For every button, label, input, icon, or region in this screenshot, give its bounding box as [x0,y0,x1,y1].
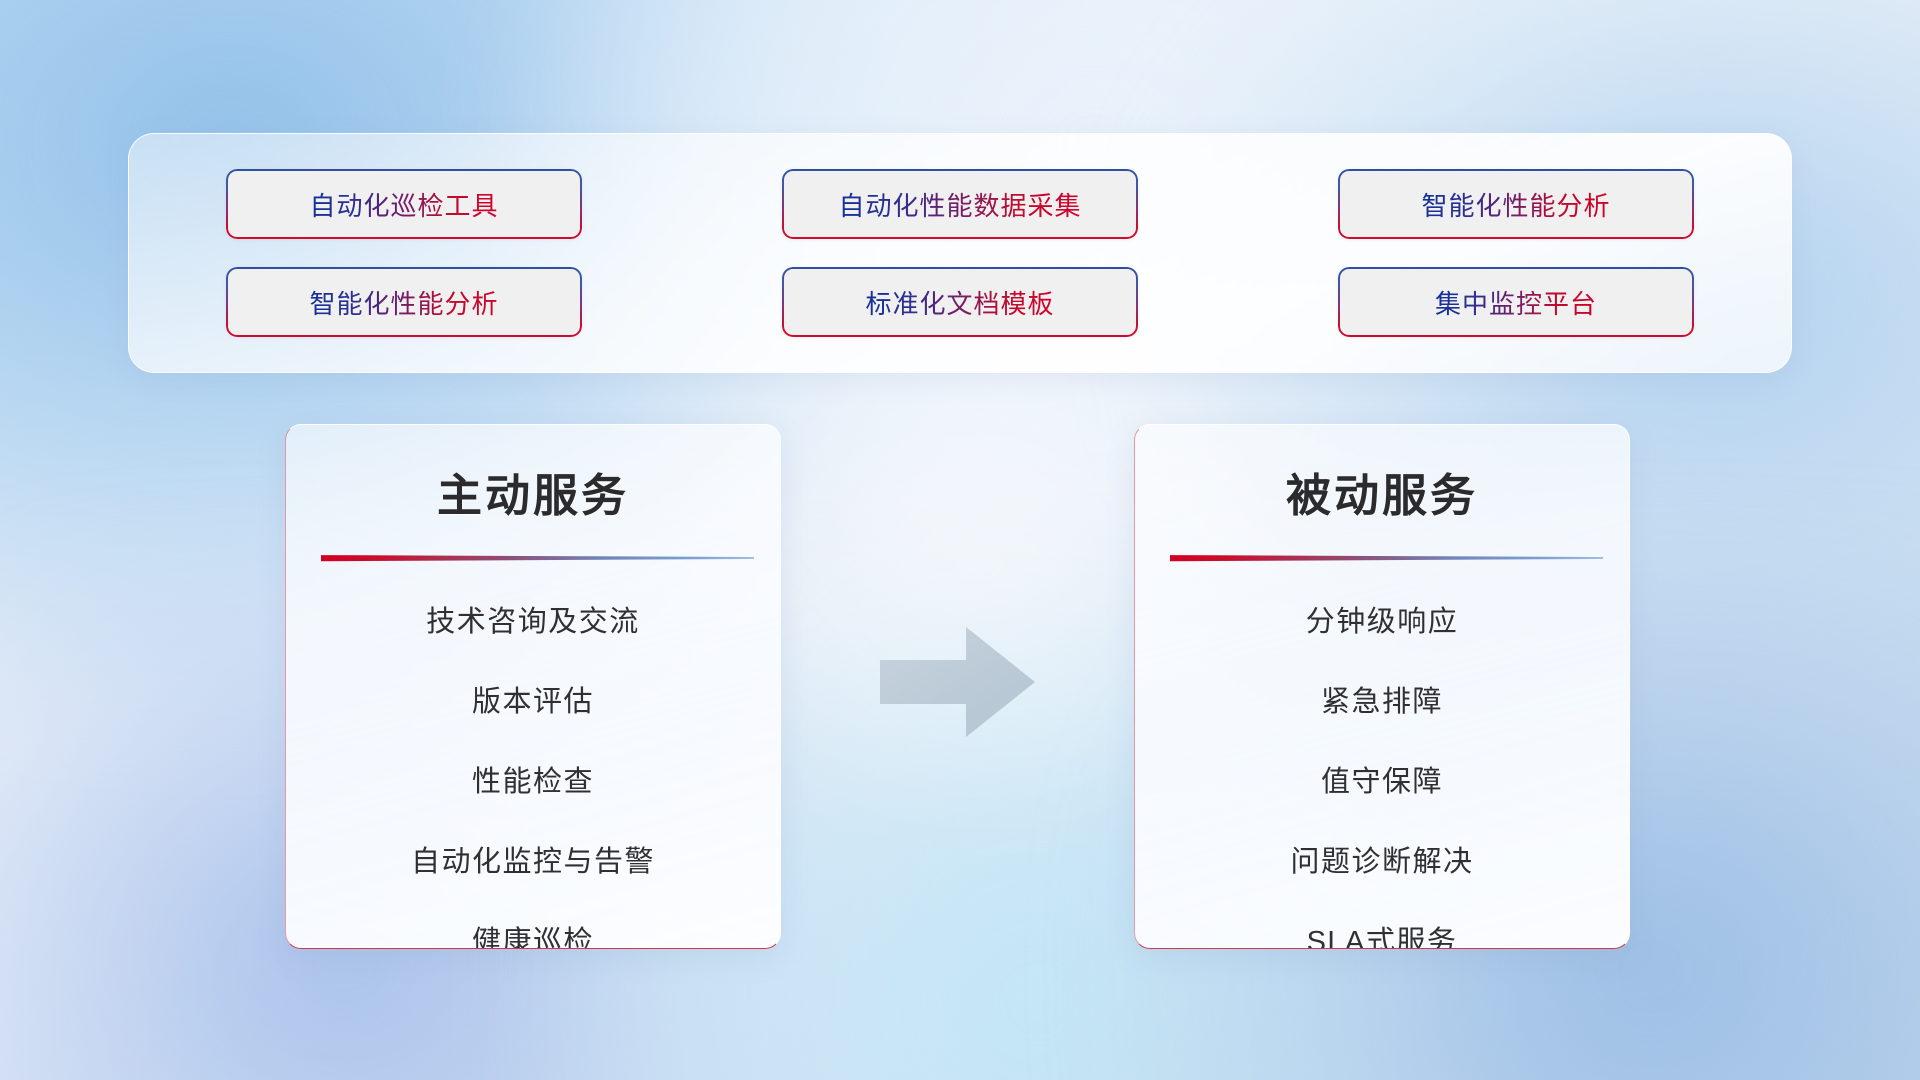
service-card-title: 被动服务 [1135,459,1629,524]
capability-pill-label: 智能化性能分析 [309,284,498,321]
capability-pill-1[interactable]: 自动化巡检工具 [226,169,582,239]
list-item: 健康巡检 [472,918,594,949]
capability-row-2: 智能化性能分析 标准化文档模板 集中监控平台 [226,267,1694,337]
service-card-list: 分钟级响应 紧急排障 值守保障 问题诊断解决 SLA式服务 [1135,598,1629,949]
list-item: 值守保障 [1321,758,1443,800]
capability-pill-3[interactable]: 智能化性能分析 [1338,169,1694,239]
capability-pill-6[interactable]: 集中监控平台 [1338,267,1694,337]
service-card-divider [321,554,754,562]
capability-pill-label: 标准化文档模板 [865,284,1054,321]
capability-row-1: 自动化巡检工具 自动化性能数据采集 智能化性能分析 [226,169,1694,239]
list-item: 技术咨询及交流 [426,598,640,640]
service-card-proactive[interactable]: 主动服务 技术咨询及交流 版本评估 性能检查 [285,424,781,949]
list-item: 性能检查 [472,758,594,800]
capability-pill-4[interactable]: 智能化性能分析 [226,267,582,337]
service-card-divider [1170,554,1603,562]
service-card-title: 主动服务 [286,459,780,524]
capability-pill-label: 自动化巡检工具 [309,186,498,223]
list-item: 版本评估 [472,678,594,720]
list-item: 分钟级响应 [1306,598,1459,640]
list-item: 问题诊断解决 [1290,838,1473,880]
capability-pill-5[interactable]: 标准化文档模板 [782,267,1138,337]
capability-pill-label: 集中监控平台 [1435,284,1597,321]
slide-stage: 自动化巡检工具 自动化性能数据采集 智能化性能分析 智能化性能分析 标准化文档模… [0,0,1920,1080]
right-arrow-icon [880,627,1035,737]
capability-pill-label: 智能化性能分析 [1421,186,1610,223]
list-item: SLA式服务 [1307,918,1458,949]
capability-pill-label: 自动化性能数据采集 [838,186,1081,223]
service-card-reactive[interactable]: 被动服务 分钟级响应 紧急排障 值守保障 [1134,424,1630,949]
list-item: 自动化监控与告警 [411,838,655,880]
list-item: 紧急排障 [1321,678,1443,720]
capability-panel: 自动化巡检工具 自动化性能数据采集 智能化性能分析 智能化性能分析 标准化文档模… [128,133,1792,373]
service-card-list: 技术咨询及交流 版本评估 性能检查 自动化监控与告警 健康巡检 [286,598,780,949]
capability-pill-2[interactable]: 自动化性能数据采集 [782,169,1138,239]
